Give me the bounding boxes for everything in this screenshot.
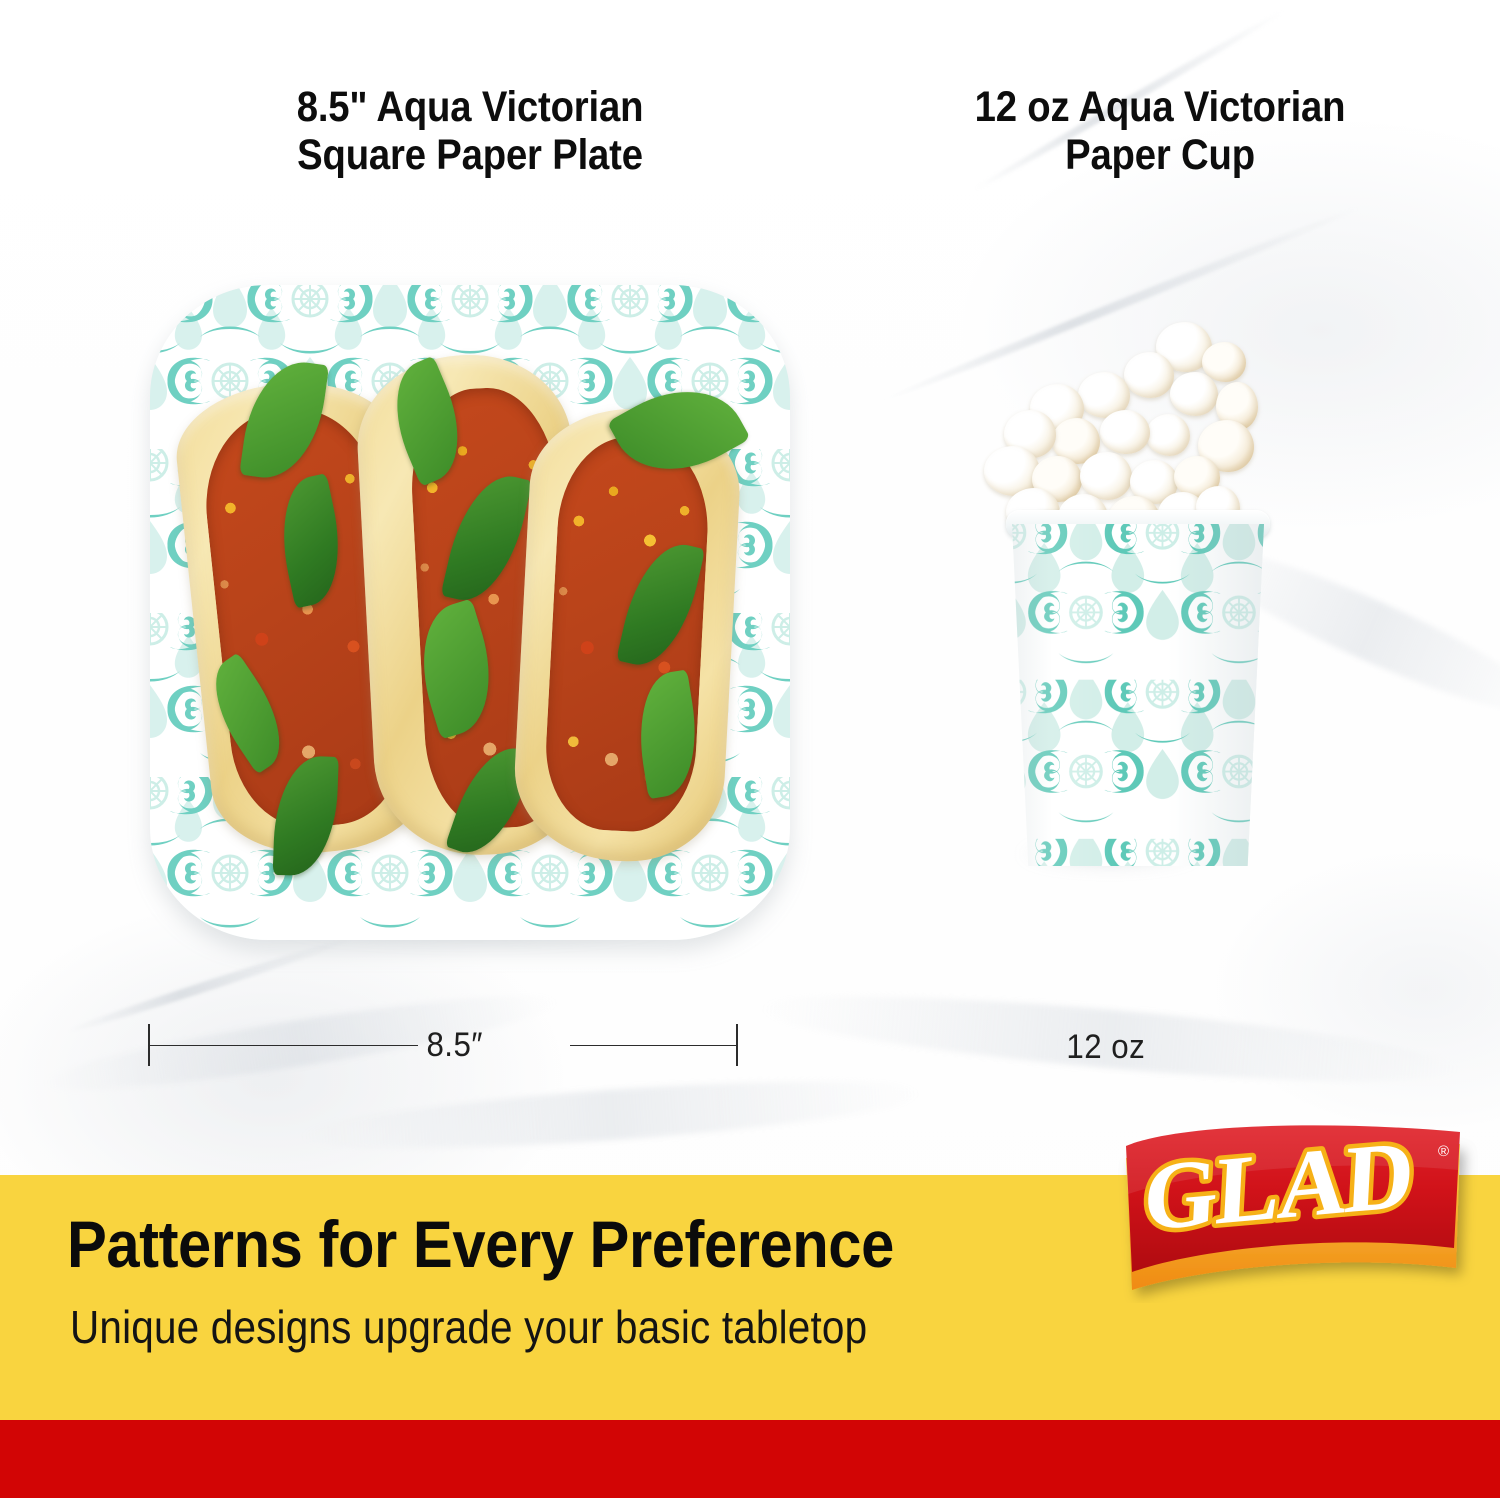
dimension-line-right [570, 1045, 738, 1046]
popcorn-kernel [1080, 452, 1132, 500]
glad-logo: GLAD GLAD ® [1108, 1118, 1478, 1303]
popcorn-kernel [1170, 372, 1218, 416]
product-image-plate [150, 285, 790, 940]
dimension-tick-right [736, 1024, 738, 1066]
paper-cup [1012, 524, 1264, 866]
popcorn-kernel [1100, 410, 1150, 454]
brand-accent-bar [0, 1420, 1500, 1498]
taco-3 [510, 404, 743, 866]
registered-mark-glyph: ® [1438, 1143, 1449, 1160]
damask-pattern-cup [1012, 524, 1264, 866]
dimension-label-plate: 8.5″ [426, 1026, 482, 1065]
popcorn-kernel [1124, 352, 1174, 398]
food-tacos [180, 335, 760, 895]
product-title-plate: 8.5" Aqua Victorian Square Paper Plate [185, 83, 755, 179]
banner-subhead: Unique designs upgrade your basic tablet… [70, 1300, 867, 1354]
popcorn-kernel [1146, 414, 1190, 456]
dimension-line-left [148, 1045, 418, 1046]
product-image-cup [960, 310, 1280, 870]
banner-headline: Patterns for Every Preference [67, 1206, 894, 1282]
square-paper-plate [150, 285, 790, 940]
marble-background: 8.5" Aqua Victorian Square Paper Plate 1… [0, 0, 1500, 1498]
dimension-label-cup: 12 oz [1066, 1028, 1145, 1067]
product-title-cup: 12 oz Aqua Victorian Paper Cup [875, 83, 1445, 179]
marble-vein [299, 1068, 921, 1161]
